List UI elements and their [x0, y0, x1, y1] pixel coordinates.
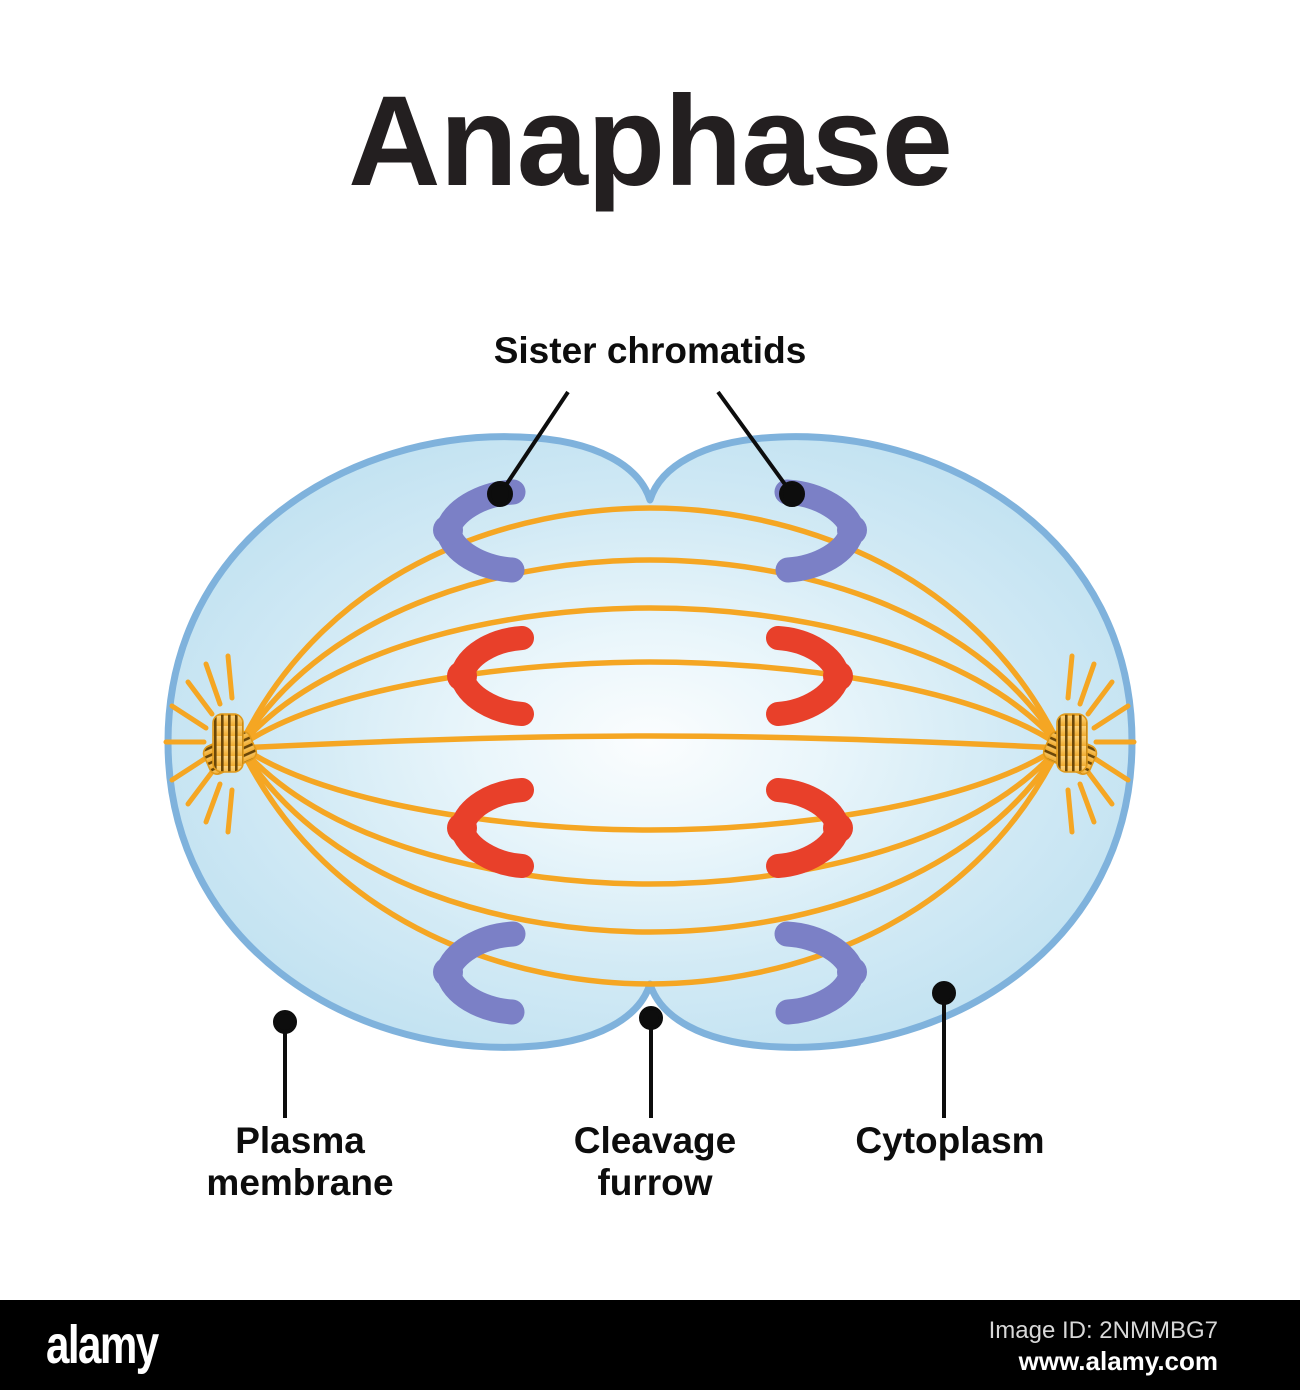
leader-dot-sister-chromatids-right: [781, 483, 803, 505]
label-plasma-membrane: Plasma membrane: [150, 1120, 450, 1204]
centromere: [837, 957, 867, 987]
stock-photo-footer: alamy Image ID: 2NMMBG7 www.alamy.com: [0, 1300, 1300, 1390]
alamy-logo: alamy: [46, 1314, 158, 1376]
centriole-vertical: [213, 714, 243, 772]
leader-dot-cleavage-furrow: [641, 1008, 661, 1028]
centriole-vertical: [1057, 714, 1087, 772]
label-cytoplasm: Cytoplasm: [800, 1120, 1100, 1162]
leader-dot-sister-chromatids-left: [489, 483, 511, 505]
centromere: [433, 515, 463, 545]
leader-dot-plasma-membrane: [275, 1012, 295, 1032]
centromere: [823, 813, 853, 843]
alamy-url-text: www.alamy.com: [1019, 1346, 1218, 1377]
centromere: [823, 661, 853, 691]
leader-dot-cytoplasm: [934, 983, 954, 1003]
centromere: [447, 661, 477, 691]
centromere: [447, 813, 477, 843]
label-sister-chromatids: Sister chromatids: [430, 330, 870, 372]
centromere: [433, 957, 463, 987]
label-cleavage-furrow: Cleavage furrow: [505, 1120, 805, 1204]
image-id-text: Image ID: 2NMMBG7: [989, 1317, 1218, 1345]
centromere: [837, 515, 867, 545]
diagram-page: Anaphase: [0, 0, 1300, 1390]
anaphase-cell-illustration: [0, 0, 1300, 1300]
